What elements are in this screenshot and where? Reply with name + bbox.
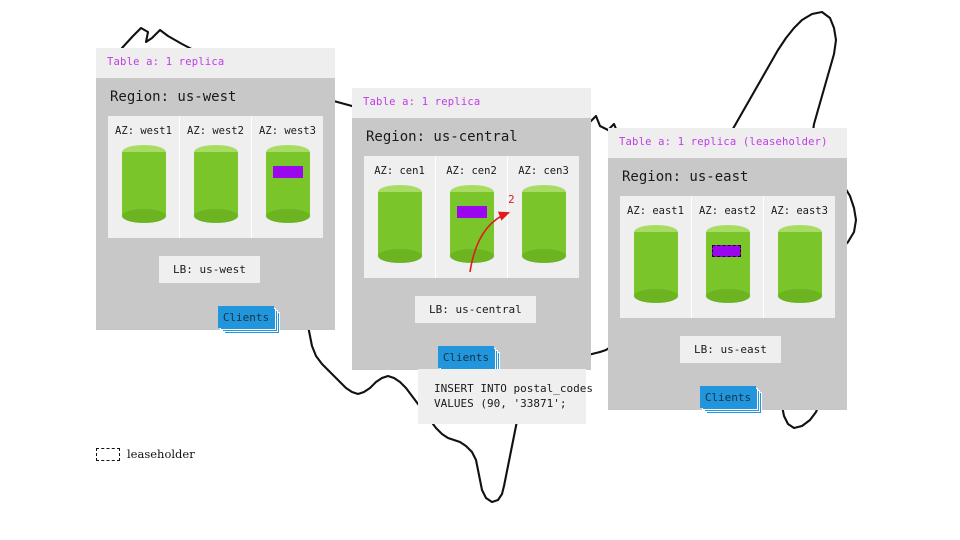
az-row-us-central: AZ: cen1 AZ: cen2 AZ: cen3	[364, 156, 579, 278]
az-label-east1: AZ: east1	[620, 205, 691, 217]
az-cell-west3[interactable]: AZ: west3	[252, 116, 323, 238]
az-label-cen3: AZ: cen3	[508, 165, 579, 177]
region-body-us-west: Region: us-west AZ: west1 AZ: west2 AZ: …	[96, 78, 335, 330]
az-cell-east3[interactable]: AZ: east3	[764, 196, 835, 318]
az-cell-cen3[interactable]: AZ: cen3	[508, 156, 579, 278]
az-cell-west1[interactable]: AZ: west1	[108, 116, 180, 238]
region-panel-us-central[interactable]: Table a: 1 replica Region: us-central AZ…	[352, 88, 591, 370]
node-cylinder-west2	[194, 145, 238, 223]
node-cylinder-west3	[266, 145, 310, 223]
az-cell-cen1[interactable]: AZ: cen1	[364, 156, 436, 278]
region-panel-us-east[interactable]: Table a: 1 replica (leaseholder) Region:…	[608, 128, 847, 410]
az-label-west3: AZ: west3	[252, 125, 323, 137]
az-label-west1: AZ: west1	[108, 125, 179, 137]
region-title-us-central: Region: us-central	[352, 118, 591, 156]
region-header-us-central: Table a: 1 replica	[352, 88, 591, 118]
az-label-cen2: AZ: cen2	[436, 165, 507, 177]
clients-button-us-west[interactable]: Clients	[218, 306, 280, 334]
legend: leaseholder	[96, 447, 195, 461]
node-cylinder-east1	[634, 225, 678, 303]
clients-button-us-east[interactable]: Clients	[700, 386, 762, 414]
region-header-us-west: Table a: 1 replica	[96, 48, 335, 78]
sql-statement-box: INSERT INTO postal_codes VALUES (90, '33…	[418, 369, 586, 424]
node-cylinder-cen2	[450, 185, 494, 263]
region-title-us-east: Region: us-east	[608, 158, 847, 196]
arrow-step-label: 2	[508, 193, 515, 206]
node-cylinder-east3	[778, 225, 822, 303]
az-label-east2: AZ: east2	[692, 205, 763, 217]
replica-marker-east2-leaseholder	[712, 245, 741, 257]
az-cell-west2[interactable]: AZ: west2	[180, 116, 252, 238]
node-cylinder-west1	[122, 145, 166, 223]
clients-label-us-east: Clients	[700, 386, 756, 408]
az-row-us-east: AZ: east1 AZ: east2 AZ: east3	[620, 196, 835, 318]
region-body-us-central: Region: us-central AZ: cen1 AZ: cen2	[352, 118, 591, 370]
load-balancer-us-central[interactable]: LB: us-central	[415, 296, 536, 323]
replica-marker-cen2	[457, 206, 487, 218]
region-panel-us-west[interactable]: Table a: 1 replica Region: us-west AZ: w…	[96, 48, 335, 330]
az-cell-cen2[interactable]: AZ: cen2	[436, 156, 508, 278]
load-balancer-us-west[interactable]: LB: us-west	[159, 256, 260, 283]
diagram-canvas: 2 Table a: 1 replica Region: us-west AZ:…	[0, 0, 960, 540]
az-row-us-west: AZ: west1 AZ: west2 AZ: west3	[108, 116, 323, 238]
az-label-east3: AZ: east3	[764, 205, 835, 217]
clients-label-us-central: Clients	[438, 346, 494, 368]
region-header-us-east: Table a: 1 replica (leaseholder)	[608, 128, 847, 158]
region-title-us-west: Region: us-west	[96, 78, 335, 116]
az-label-west2: AZ: west2	[180, 125, 251, 137]
replica-marker-west3	[273, 166, 303, 178]
node-cylinder-east2	[706, 225, 750, 303]
node-cylinder-cen3	[522, 185, 566, 263]
dashed-rect-icon	[96, 448, 120, 461]
node-cylinder-cen1	[378, 185, 422, 263]
legend-label: leaseholder	[127, 447, 195, 461]
az-cell-east2[interactable]: AZ: east2	[692, 196, 764, 318]
az-label-cen1: AZ: cen1	[364, 165, 435, 177]
az-cell-east1[interactable]: AZ: east1	[620, 196, 692, 318]
region-body-us-east: Region: us-east AZ: east1 AZ: east2	[608, 158, 847, 410]
load-balancer-us-east[interactable]: LB: us-east	[680, 336, 781, 363]
clients-label-us-west: Clients	[218, 306, 274, 328]
